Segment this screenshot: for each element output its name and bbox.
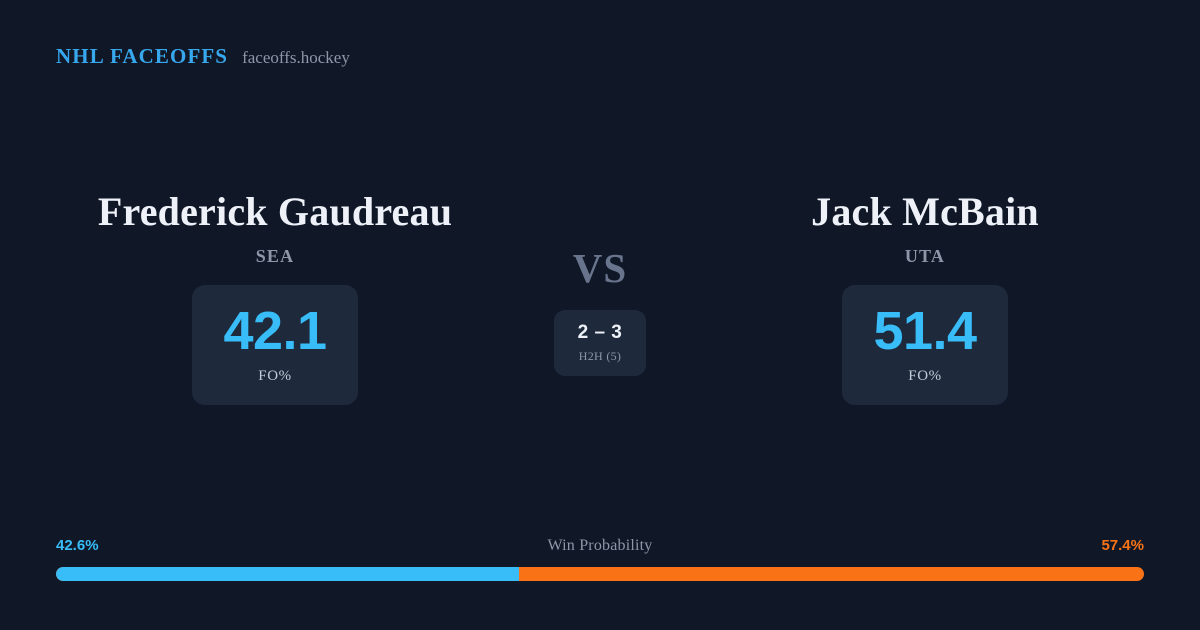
player-name-left: Frederick Gaudreau — [98, 190, 452, 235]
win-probability-bar — [56, 567, 1144, 581]
player-team-left: SEA — [256, 246, 295, 267]
faceoff-pct-label-right: FO% — [908, 368, 941, 385]
win-probability-bar-left-fill — [56, 567, 519, 581]
player-name-right: Jack McBain — [811, 190, 1039, 235]
player-card-left: Frederick Gaudreau SEA 42.1 FO% — [40, 190, 510, 405]
win-probability-labels: 42.6% Win Probability 57.4% — [56, 537, 1144, 557]
faceoff-stat-card-right: 51.4 FO% — [842, 285, 1008, 405]
faceoff-pct-value-left: 42.1 — [223, 304, 326, 358]
faceoff-pct-label-left: FO% — [258, 368, 291, 385]
site-header: NHL FACEOFFS faceoffs.hockey — [56, 44, 350, 69]
matchup-section: Frederick Gaudreau SEA 42.1 FO% VS 2 – 3… — [0, 190, 1200, 430]
faceoff-stat-card-left: 42.1 FO% — [192, 285, 358, 405]
head-to-head-card: 2 – 3 H2H (5) — [554, 310, 646, 376]
brand-title: NHL FACEOFFS — [56, 44, 228, 69]
versus-label: VS — [573, 248, 627, 289]
player-team-right: UTA — [905, 246, 945, 267]
win-probability-section: 42.6% Win Probability 57.4% — [56, 537, 1144, 581]
player-card-right: Jack McBain UTA 51.4 FO% — [690, 190, 1160, 405]
win-probability-right-pct: 57.4% — [1101, 537, 1144, 554]
head-to-head-label: H2H (5) — [579, 349, 621, 364]
versus-block: VS 2 – 3 H2H (5) — [510, 190, 690, 376]
faceoff-pct-value-right: 51.4 — [873, 304, 976, 358]
site-domain: faceoffs.hockey — [242, 48, 350, 68]
head-to-head-score: 2 – 3 — [578, 323, 623, 342]
win-probability-title: Win Probability — [56, 537, 1144, 555]
